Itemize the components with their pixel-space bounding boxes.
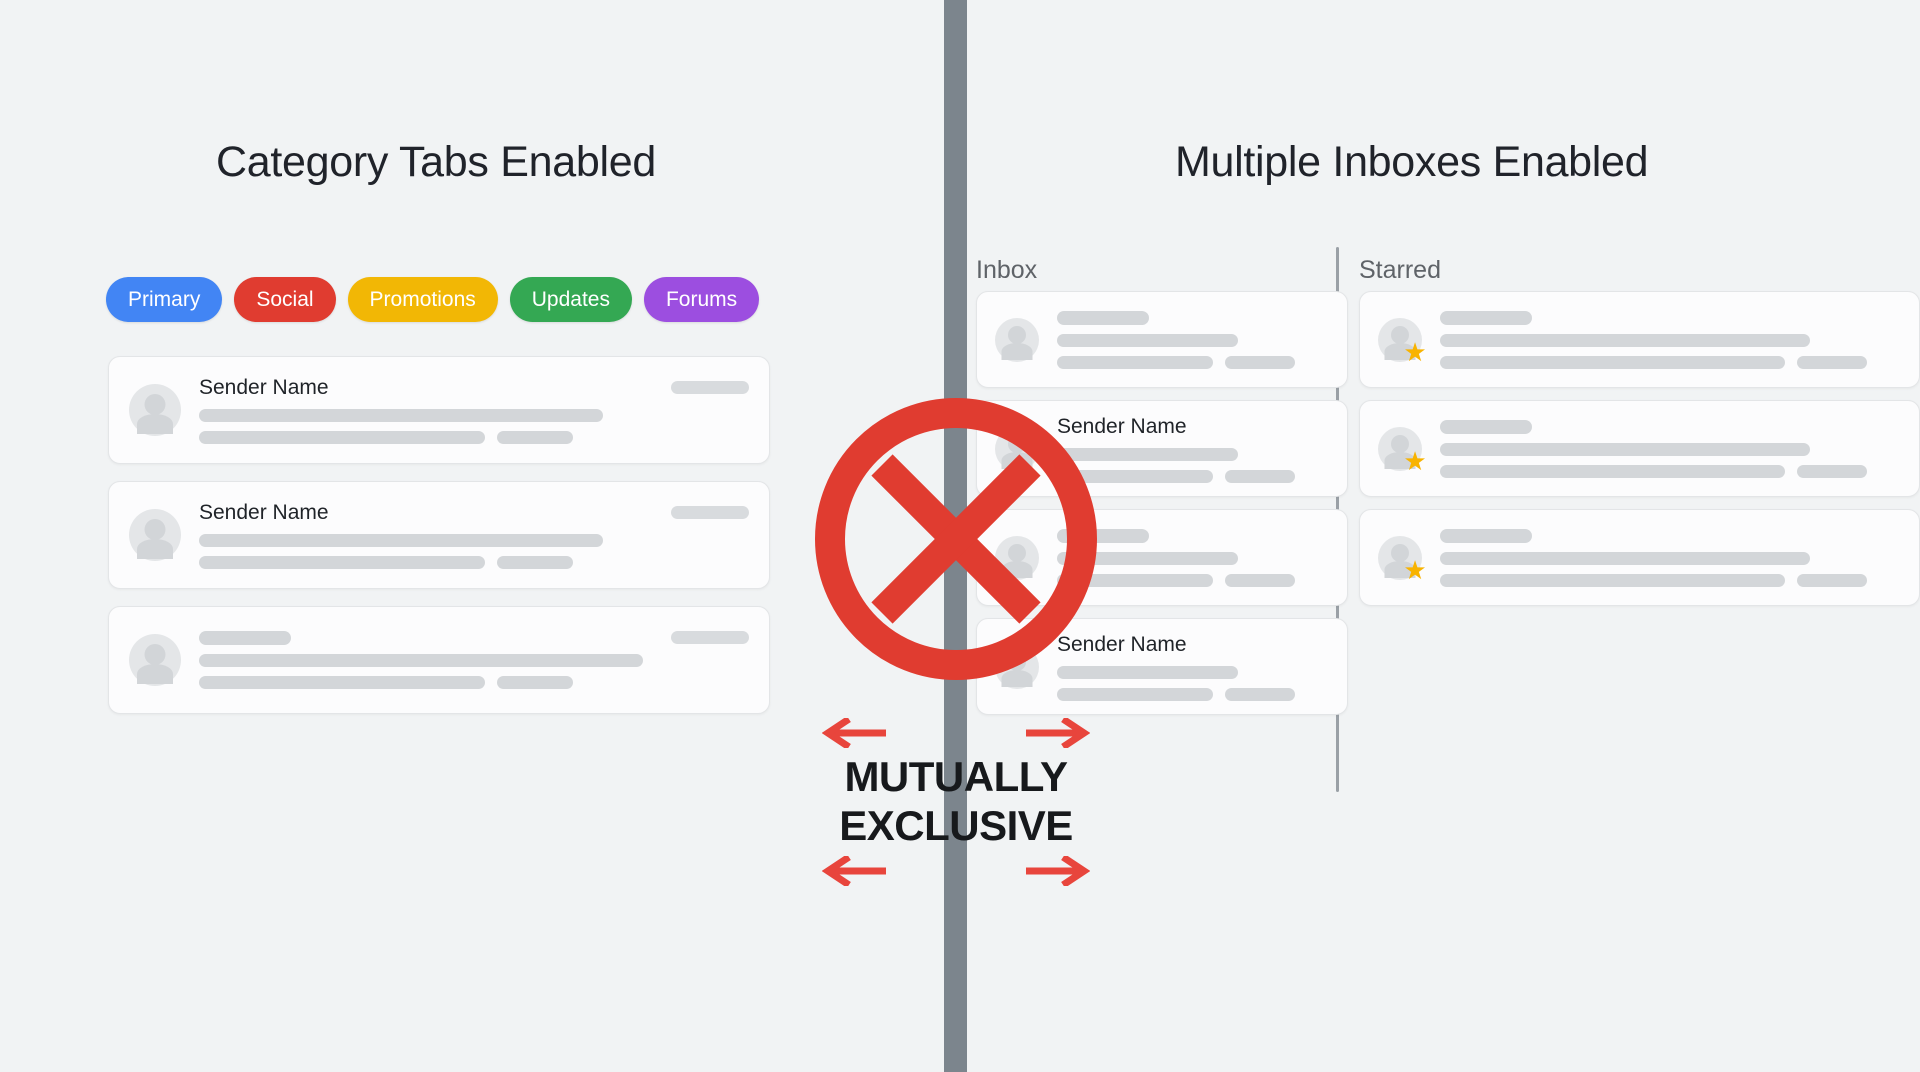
skeleton-bar — [1057, 334, 1238, 347]
email-card[interactable] — [108, 606, 770, 714]
skeleton-bar — [199, 431, 485, 444]
avatar-body — [1002, 343, 1033, 360]
star-icon[interactable]: ★ — [1402, 339, 1428, 365]
skeleton-bar — [199, 654, 643, 667]
avatar: ★ — [1378, 427, 1422, 471]
email-preview-row — [199, 654, 749, 667]
email-preview-row — [199, 431, 749, 444]
right-panel-title: Multiple Inboxes Enabled — [1175, 138, 1648, 187]
skeleton-bar — [199, 676, 485, 689]
email-card[interactable] — [976, 291, 1348, 388]
skeleton-bar — [1440, 574, 1785, 587]
email-card-sender-row — [1057, 311, 1329, 325]
email-card[interactable]: ★ — [1359, 400, 1920, 497]
email-card[interactable]: Sender Name — [108, 481, 770, 589]
email-card-content — [199, 631, 749, 689]
email-card-sender-row — [1440, 311, 1901, 325]
mutually-exclusive-block: MUTUALLY EXCLUSIVE — [822, 716, 1090, 888]
skeleton-bar — [1057, 356, 1213, 369]
avatar-head — [145, 394, 166, 415]
starred-column-card-list: ★★★ — [1359, 291, 1920, 618]
skeleton-bar — [199, 556, 485, 569]
email-card-sender-row — [1440, 529, 1901, 543]
email-card-content — [1057, 311, 1329, 369]
avatar — [995, 318, 1039, 362]
avatar-head — [145, 519, 166, 540]
avatar-body — [137, 539, 173, 559]
skeleton-bar — [199, 631, 291, 645]
avatar-body — [137, 414, 173, 434]
email-preview-row — [1440, 552, 1901, 565]
email-preview-row — [199, 409, 749, 422]
skeleton-bar — [497, 556, 573, 569]
skeleton-bar — [1440, 529, 1532, 543]
left-panel-title: Category Tabs Enabled — [216, 138, 656, 187]
avatar — [129, 634, 181, 686]
arrow-left-icon — [822, 718, 888, 748]
arrow-right-icon — [1024, 856, 1090, 886]
skeleton-bar — [1440, 552, 1810, 565]
timestamp-placeholder — [671, 381, 749, 394]
star-icon[interactable]: ★ — [1402, 557, 1428, 583]
email-card-content — [1440, 420, 1901, 478]
category-tab-social[interactable]: Social — [234, 277, 335, 322]
skeleton-bar — [497, 676, 573, 689]
prohibition-no-entry-icon — [800, 383, 1112, 695]
email-preview-row — [1440, 334, 1901, 347]
avatar-head — [145, 644, 166, 665]
email-preview-row — [199, 534, 749, 547]
skeleton-bar — [1057, 311, 1149, 325]
email-card-content — [1440, 529, 1901, 587]
email-preview-row — [1057, 356, 1329, 369]
email-card-content: Sender Name — [199, 501, 749, 569]
category-tab-list: PrimarySocialPromotionsUpdatesForums — [106, 277, 759, 322]
email-card-content — [1440, 311, 1901, 369]
column-label-inbox: Inbox — [976, 256, 1037, 285]
mutually-exclusive-line-2: EXCLUSIVE — [822, 805, 1090, 848]
avatar-body — [137, 664, 173, 684]
category-tab-updates[interactable]: Updates — [510, 277, 632, 322]
email-preview-row — [1440, 574, 1901, 587]
avatar: ★ — [1378, 536, 1422, 580]
category-tab-primary[interactable]: Primary — [106, 277, 222, 322]
column-label-starred: Starred — [1359, 256, 1441, 285]
skeleton-bar — [1440, 356, 1785, 369]
skeleton-bar — [1797, 465, 1867, 478]
skeleton-bar — [199, 409, 603, 422]
email-preview-row — [1440, 443, 1901, 456]
avatar — [129, 509, 181, 561]
skeleton-bar — [1440, 443, 1810, 456]
avatar-head — [1008, 326, 1026, 344]
email-card-sender-row — [1440, 420, 1901, 434]
email-card-content: Sender Name — [199, 376, 749, 444]
category-tab-promotions[interactable]: Promotions — [348, 277, 498, 322]
skeleton-bar — [497, 431, 573, 444]
arrow-row-top — [822, 716, 1090, 750]
sender-name: Sender Name — [199, 376, 329, 400]
email-card[interactable]: ★ — [1359, 291, 1920, 388]
email-card[interactable]: Sender Name — [108, 356, 770, 464]
email-card[interactable]: ★ — [1359, 509, 1920, 606]
avatar — [129, 384, 181, 436]
skeleton-bar — [1440, 311, 1532, 325]
skeleton-bar — [1225, 356, 1295, 369]
timestamp-placeholder — [671, 506, 749, 519]
email-preview-row — [199, 676, 749, 689]
avatar: ★ — [1378, 318, 1422, 362]
sender-name: Sender Name — [199, 501, 329, 525]
skeleton-bar — [199, 534, 603, 547]
email-preview-row — [1440, 465, 1901, 478]
skeleton-bar — [1440, 420, 1532, 434]
email-preview-row — [199, 556, 749, 569]
skeleton-bar — [1440, 334, 1810, 347]
email-card-sender-row — [199, 631, 749, 645]
star-icon[interactable]: ★ — [1402, 448, 1428, 474]
skeleton-bar — [1797, 356, 1867, 369]
email-preview-row — [1440, 356, 1901, 369]
skeleton-bar — [1225, 574, 1295, 587]
skeleton-bar — [1225, 688, 1295, 701]
email-preview-row — [1057, 334, 1329, 347]
arrow-row-bottom — [822, 854, 1090, 888]
skeleton-bar — [1440, 465, 1785, 478]
skeleton-bar — [1225, 470, 1295, 483]
arrow-right-icon — [1024, 718, 1090, 748]
email-card-list-left: Sender NameSender Name — [108, 356, 770, 731]
email-card-sender-row: Sender Name — [199, 501, 749, 525]
skeleton-bar — [1797, 574, 1867, 587]
timestamp-placeholder — [671, 631, 749, 644]
category-tab-forums[interactable]: Forums — [644, 277, 759, 322]
email-card-sender-row: Sender Name — [199, 376, 749, 400]
arrow-left-icon — [822, 856, 888, 886]
mutually-exclusive-line-1: MUTUALLY — [822, 756, 1090, 799]
